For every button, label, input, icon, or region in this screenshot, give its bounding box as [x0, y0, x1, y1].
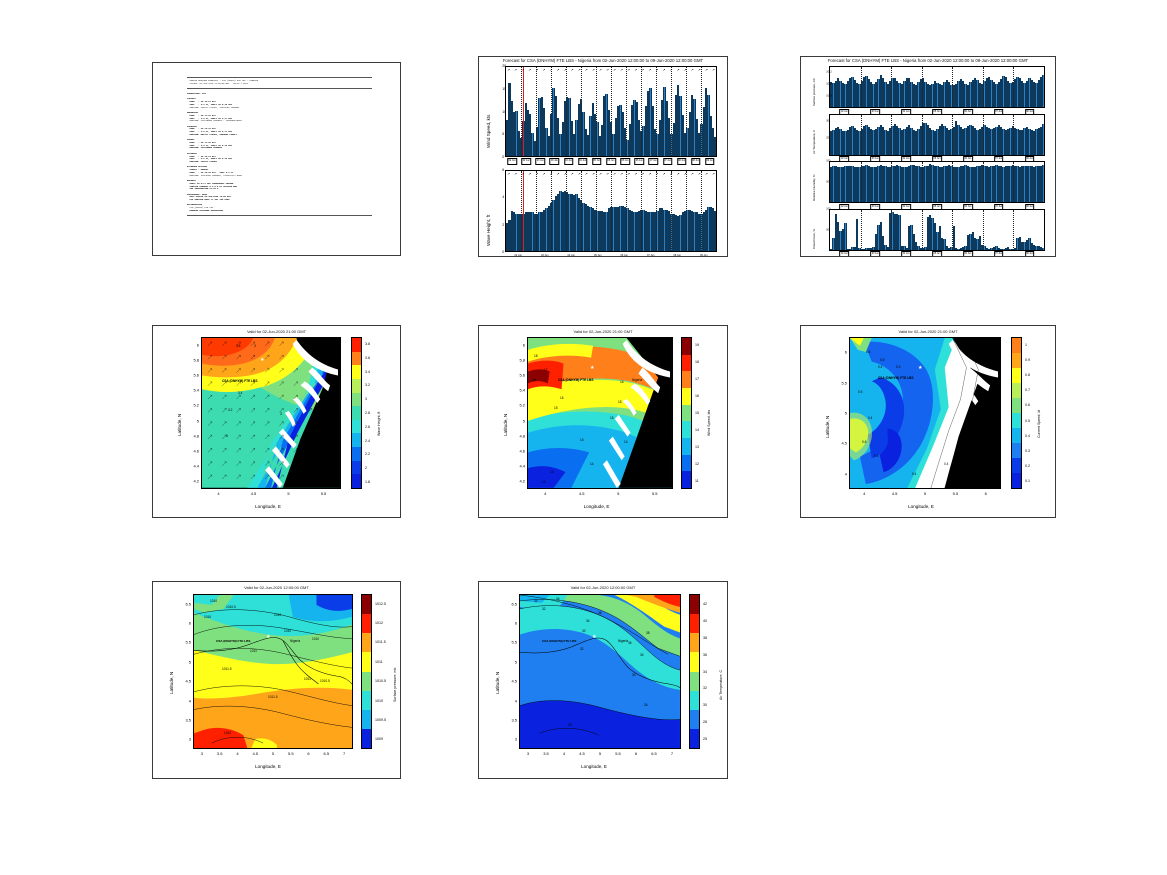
x-tick-box: 06 Jun — [620, 158, 630, 165]
y-tick-label: 4.6 — [185, 449, 199, 454]
x-tick-box: 03 Jun — [550, 158, 560, 165]
wind-speed-gridlines — [506, 67, 716, 156]
contour-label: 14 — [590, 462, 594, 466]
x-tick-label: 6 — [985, 491, 987, 496]
x-tick-label: 5.5 — [288, 751, 294, 756]
cloud-cover-timeseries-plot-area — [829, 209, 1045, 251]
contour-label: 18 — [534, 354, 538, 358]
colorbar-band — [682, 338, 691, 355]
x-tick-label: 4.5 — [252, 751, 258, 756]
x-tick-label: 06 Jun — [620, 254, 628, 257]
y-tick-label: 50 — [826, 181, 827, 184]
gridline — [891, 210, 892, 250]
gridline — [1013, 67, 1014, 107]
colorbar-band — [682, 405, 691, 422]
contour-label: 15 — [610, 416, 614, 420]
x-tick-box: 09 Jun — [705, 158, 715, 165]
wave-colorbar-label: Wave Height, ft — [377, 412, 381, 436]
y-tick-label: 5.8 — [185, 357, 199, 362]
colorbar-band — [352, 393, 361, 407]
colorbar-band — [1012, 413, 1021, 428]
colorbar-band — [1012, 398, 1021, 413]
site-star-icon: ★ — [590, 366, 594, 371]
x-tick-box: 03 Jun — [536, 158, 546, 165]
report-line — [187, 77, 372, 78]
y-tick-label: 6 — [185, 342, 199, 347]
pressure-colorbar-label: Surface pressure, mb — [393, 668, 397, 702]
isotherm-label: 32 — [582, 629, 586, 633]
gridline — [861, 162, 862, 202]
colorbar-tick-label: 1012 — [375, 621, 383, 625]
colorbar-tick-label: 16 — [695, 394, 699, 398]
colorbar-tick-label: 25 — [703, 737, 707, 741]
gridline — [1013, 115, 1014, 155]
site-star-icon: ★ — [592, 635, 596, 640]
gridline — [983, 162, 984, 202]
direction-arrow-icon: ↗ — [646, 172, 653, 177]
gridline — [656, 67, 657, 156]
colorbar-tick-label: 0.7 — [1025, 388, 1030, 392]
x-tick-box: 05 Jun — [592, 158, 602, 165]
wave-map-colorbar — [351, 337, 362, 489]
colorbar-tick-label: 1012.5 — [375, 602, 386, 606]
x-tick-label: 4 — [217, 491, 219, 496]
y-tick-label: 50 — [826, 228, 827, 231]
direction-arrow-icon: ↗ — [526, 172, 533, 177]
gridline — [551, 67, 552, 156]
y-tick-label: 10 — [502, 110, 503, 114]
y-tick-label: 4 — [833, 471, 847, 476]
contour-label: 0.5 — [858, 390, 862, 394]
x-tick-label: 3 — [201, 751, 203, 756]
panel-wind-speed-map[interactable]: Valid for 02-Jun-2020 21:00 GMT — [478, 325, 728, 518]
site-star-icon: ★ — [266, 635, 270, 640]
y-tick-label: 4.8 — [185, 433, 199, 438]
current-map-plot-area: CSA (DNHYM) FTE LBS ★ 0.6 0.5 0.4 0.3 0.… — [849, 337, 1001, 489]
current-map-y-label: Latitude, N — [825, 416, 830, 438]
colorbar-tick-label: 0.1 — [1025, 479, 1030, 483]
relative-humidity-timeseries-subplot: Relative Humidity, %5010002 Jun03 Jun04 … — [829, 161, 1045, 203]
direction-arrow-icon: ↗ — [583, 172, 590, 177]
x-tick-label: 3.5 — [543, 751, 549, 756]
colorbar-band — [682, 455, 691, 472]
contour-label: 18 — [532, 378, 536, 382]
y-tick-label: 4.5 — [177, 679, 191, 684]
gridline — [922, 210, 923, 250]
x-tick-label: 6.5 — [324, 751, 330, 756]
wave-field — [202, 338, 340, 488]
direction-arrow-icon: ↗ — [576, 172, 583, 177]
contour-label: 15 — [554, 406, 558, 410]
x-tick-label: 05 Jun — [594, 254, 602, 257]
direction-arrow-icon: ↗ — [667, 68, 674, 73]
contour-label: 3.2 — [228, 408, 232, 412]
colorbar-tick-label: 0.4 — [1025, 434, 1030, 438]
colorbar-band — [352, 433, 361, 447]
colorbar-band — [362, 729, 371, 748]
panel-empty-slot — [800, 581, 1056, 779]
gridline — [551, 171, 552, 251]
y-tick-label: 6.5 — [177, 601, 191, 606]
wind-direction-arrows: ↗↗↗↗↗↗↗↗↗↗↗↗↗↗↗↗↗↗↗↗↗↗↗↗↗↗↗↗↗↗ — [505, 68, 717, 73]
colorbar-tick-label: 2.4 — [365, 439, 370, 443]
x-tick-label: 4.5 — [892, 491, 898, 496]
y-tick-label: 3.5 — [503, 717, 517, 722]
colorbar-band — [1012, 443, 1021, 458]
colorbar-tick-label: 1010 — [375, 699, 383, 703]
direction-arrow-icon: ↗ — [505, 68, 512, 73]
y-tick-label: 6 — [511, 342, 525, 347]
x-tick-box: 05 Jun — [932, 251, 942, 257]
direction-arrow-icon: ↗ — [590, 68, 597, 73]
x-tick-label: 3 — [527, 751, 529, 756]
contour-label: 0.6 — [862, 440, 866, 444]
direction-arrow-icon: ↗ — [512, 68, 519, 73]
contour-label: 17 — [544, 368, 548, 372]
wind-wave-title: Forecast for CSA (DNHYM) FTE LBS - Niger… — [479, 58, 727, 63]
gridline — [1013, 210, 1014, 250]
x-tick-label: 08 Jun — [673, 254, 681, 257]
y-tick-label: 3.5 — [177, 717, 191, 722]
direction-arrow-icon: ↗ — [576, 68, 583, 73]
y-tick-label: 5 — [177, 659, 191, 664]
region-label: Nigeria — [618, 639, 628, 643]
current-map-site-label: CSA (DNHYM) FTE LBS — [878, 376, 913, 380]
direction-arrow-icon: ↗ — [505, 172, 512, 177]
wind-map-site-label: CSA (DNHYM) FTE LBS — [558, 378, 593, 382]
colorbar-band — [682, 371, 691, 388]
direction-arrow-icon: ↗ — [710, 172, 717, 177]
isobar-label: 1010 — [312, 637, 319, 641]
wave-map-plot-area: CSA (DNHYM) FTE LBS ★ 3.6 3 3.4 3.2 3 3 … — [201, 337, 341, 489]
y-tick-label: 0 — [502, 155, 503, 159]
y-tick-label: 25 — [826, 137, 827, 140]
direction-arrow-icon: ↗ — [639, 172, 646, 177]
region-label: Nigeria — [290, 639, 300, 643]
gridline — [671, 171, 672, 251]
colorbar-tick-label: 1009.5 — [375, 718, 386, 722]
gridline — [861, 115, 862, 155]
isobar-label: 1012 — [224, 731, 231, 735]
x-tick-box: 06 Jun — [635, 158, 645, 165]
colorbar-tick-label: 1009 — [375, 737, 383, 741]
isotherm-label: 36 — [556, 597, 560, 601]
x-tick-box: 02 Jun — [507, 158, 517, 165]
direction-arrow-icon: ↗ — [710, 68, 717, 73]
relative-humidity-timeseries-axis-label: Relative Humidity, % — [812, 175, 816, 201]
panel-wave-height-map[interactable]: Valid for 02-Jun-2020 21:00 GMT — [152, 325, 401, 518]
gridline — [922, 115, 923, 155]
x-tick-label: 5 — [924, 491, 926, 496]
isotherm-label: 34 — [640, 653, 644, 657]
contour-label: 2 — [304, 460, 306, 464]
isotherm-label: 34 — [534, 599, 538, 603]
colorbar-band — [362, 614, 371, 633]
contour-label: 0.6 — [866, 350, 870, 354]
direction-arrow-icon: ↗ — [533, 68, 540, 73]
colorbar-band — [352, 447, 361, 461]
direction-arrow-icon: ↗ — [597, 68, 604, 73]
y-tick-label: 5 — [833, 411, 847, 416]
contour-label: 12 — [542, 480, 546, 484]
colorbar-band — [1012, 428, 1021, 443]
airtemp-map-plot-area: CSA (DNHYM) FTE LBS ★ Nigeria 34 36 32 3… — [519, 594, 681, 749]
x-tick-label: 4.5 — [579, 491, 585, 496]
colorbar-band — [352, 420, 361, 434]
direction-arrow-icon: ↗ — [597, 172, 604, 177]
colorbar-tick-label: 17 — [695, 377, 699, 381]
gridline — [1013, 162, 1014, 202]
report-line — [187, 88, 372, 89]
isotherm-label: 26 — [644, 703, 648, 707]
x-tick-box: 04 Jun — [901, 251, 911, 257]
isobar-label: 1011.5 — [222, 667, 232, 671]
y-tick-label: 5.2 — [185, 403, 199, 408]
current-map-colorbar — [1011, 337, 1022, 489]
colorbar-band — [362, 672, 371, 691]
contour-label: 13 — [550, 470, 554, 474]
direction-arrow-icon: ↗ — [703, 68, 710, 73]
gridline — [536, 171, 537, 251]
colorbar-tick-label: 1 — [1025, 343, 1027, 347]
panel-air-temperature-map[interactable]: Valid for 02-Jun-2020 12:00:00 GMT — [478, 581, 728, 779]
colorbar-band — [1012, 368, 1021, 383]
current-map-title: Valid for 02-Jun-2020 21:00 GMT — [801, 329, 1055, 334]
y-tick-label: 3 — [503, 737, 517, 742]
y-tick-label: 4.2 — [511, 479, 525, 484]
x-tick-label: 09 Jun — [700, 254, 708, 257]
current-time-marker — [523, 67, 524, 156]
wave-map-x-label: Longitude, E — [183, 504, 353, 509]
direction-arrow-icon: ↗ — [653, 68, 660, 73]
contour-label: 3 — [226, 434, 228, 438]
surface-pressure-timeseries-plot-area — [829, 66, 1045, 108]
wave-map-y-label: Latitude, N — [177, 414, 182, 436]
direction-arrow-icon: ↗ — [660, 68, 667, 73]
contour-label: 0.3 — [874, 454, 878, 458]
x-tick-box: 07 Jun — [663, 158, 673, 165]
report-body: MARINE WEATHER FORECAST - CSA (DNHYM) FT… — [153, 63, 400, 255]
current-map-x-label: Longitude, E — [831, 504, 1011, 509]
current-time-marker-wave — [523, 171, 524, 251]
direction-arrow-icon: ↗ — [519, 172, 526, 177]
colorbar-tick-label: 1010.5 — [375, 679, 386, 683]
colorbar-tick-label: 0.2 — [1025, 464, 1030, 468]
gridline — [596, 171, 597, 251]
colorbar-tick-label: 3.8 — [365, 342, 370, 346]
direction-arrow-icon: ↗ — [554, 172, 561, 177]
isotherm-label: 30 — [632, 673, 636, 677]
y-tick-label: 0 — [502, 250, 503, 254]
pressure-map-title: Valid for 02-Jun-2020 12:00:00 GMT — [153, 585, 400, 590]
contour-label: 3.4 — [238, 391, 242, 395]
y-tick-label: 3 — [177, 737, 191, 742]
direction-arrow-icon: ↗ — [562, 172, 569, 177]
colorbar-tick-label: 0.6 — [1025, 403, 1030, 407]
x-tick-label: 04 Jun — [567, 254, 575, 257]
y-tick-label: 4.5 — [503, 679, 517, 684]
gridline — [671, 67, 672, 156]
direction-arrow-icon: ↗ — [611, 68, 618, 73]
colorbar-tick-label: 36 — [703, 653, 707, 657]
panel-wind-wave-timeseries[interactable]: Forecast for CSA (DNHYM) FTE LBS - Niger… — [478, 56, 728, 257]
colorbar-band — [352, 379, 361, 393]
colorbar-band — [1012, 458, 1021, 473]
x-tick-label: 03 Jun — [541, 254, 549, 257]
x-tick-label: 4.5 — [251, 491, 257, 496]
airtemp-map-x-label: Longitude, E — [499, 764, 689, 769]
colorbar-band — [682, 438, 691, 455]
gridline — [581, 67, 582, 156]
contour-label: 3 — [280, 412, 282, 416]
airtemp-map-site-label: CSA (DNHYM) FTE LBS — [542, 639, 576, 643]
x-tick-label: 3.5 — [217, 751, 223, 756]
colorbar-tick-label: 42 — [703, 602, 707, 606]
direction-arrow-icon: ↗ — [519, 68, 526, 73]
y-tick-label: 15 — [502, 87, 503, 91]
panel-forecast-text-report[interactable]: MARINE WEATHER FORECAST - CSA (DNHYM) FT… — [152, 62, 401, 256]
x-tick-box: 04 Jun — [564, 158, 574, 165]
gridline — [861, 210, 862, 250]
contour-label: 0.3 — [896, 365, 900, 369]
colorbar-tick-label: 0.8 — [1025, 373, 1030, 377]
isotherm-label: 32 — [580, 647, 584, 651]
y-tick-label: 5.4 — [185, 388, 199, 393]
y-tick-label: 5.6 — [511, 373, 525, 378]
panel-surface-pressure-map[interactable]: Valid for 02-Jun-2020 12:00:00 GMT — [152, 581, 401, 779]
airtemp-field — [520, 595, 680, 748]
x-tick-label: 5.5 — [953, 491, 959, 496]
x-tick-label: 5.5 — [615, 751, 621, 756]
isobar-label: 1010 — [274, 613, 281, 617]
isotherm-label: 32 — [542, 607, 546, 611]
gridline — [626, 171, 627, 251]
wave-height-subplot: Wave Height, ft 0246 ↗↗↗↗↗↗↗↗↗↗↗↗↗↗↗↗↗↗↗… — [505, 170, 717, 252]
colorbar-tick-label: 11 — [695, 479, 699, 483]
direction-arrow-icon: ↗ — [540, 172, 547, 177]
colorbar-band — [690, 672, 699, 691]
isotherm-label: 38 — [646, 631, 650, 635]
colorbar-band — [690, 729, 699, 748]
direction-arrow-icon: ↗ — [660, 172, 667, 177]
x-tick-box: 07 Jun — [994, 251, 1004, 257]
direction-arrow-icon: ↗ — [554, 68, 561, 73]
isotherm-label: 36 — [628, 641, 632, 645]
direction-arrow-icon: ↗ — [547, 68, 554, 73]
gridline — [641, 171, 642, 251]
direction-arrow-icon: ↗ — [696, 68, 703, 73]
direction-arrow-icon: ↗ — [646, 68, 653, 73]
y-tick-label: 100 — [826, 207, 827, 210]
colorbar-band — [690, 652, 699, 671]
y-tick-label: 1008 — [826, 95, 827, 98]
gridlines — [830, 115, 1044, 155]
surface-pressure-timeseries-axis-label: Surface pressure, mb — [812, 78, 816, 106]
colorbar-tick-label: 3.4 — [365, 370, 370, 374]
x-tick-label: 5.5 — [652, 491, 658, 496]
site-star-icon: ★ — [918, 366, 922, 371]
x-tick-box: 08 Jun — [1025, 251, 1035, 257]
direction-arrow-icon: ↗ — [512, 172, 519, 177]
y-tick-label: 5.4 — [511, 388, 525, 393]
y-tick-label: 6 — [177, 621, 191, 626]
x-tick-box: 03 Jun — [870, 251, 880, 257]
site-star-icon: ★ — [260, 358, 264, 363]
colorbar-tick-label: 2.8 — [365, 411, 370, 415]
direction-arrow-icon: ↗ — [632, 68, 639, 73]
x-tick-box: 06 Jun — [963, 251, 973, 257]
y-tick-label: 5.8 — [511, 357, 525, 362]
y-tick-label: 6.5 — [503, 601, 517, 606]
y-tick-label: 30 — [826, 119, 827, 122]
x-tick-box: 08 Jun — [691, 158, 701, 165]
direction-arrow-icon: ↗ — [667, 172, 674, 177]
colorbar-tick-label: 18 — [695, 360, 699, 364]
y-tick-label: 5.6 — [185, 373, 199, 378]
current-field — [850, 338, 1000, 488]
gridline — [952, 210, 953, 250]
isobar-label: 1010 — [284, 629, 291, 633]
x-tick-label: 4 — [863, 491, 865, 496]
wave-direction-arrows: ↗↗↗↗↗↗↗↗↗↗↗↗↗↗↗↗↗↗↗↗↗↗↗↗↗↗↗↗↗↗ — [505, 172, 717, 177]
colorbar-band — [690, 595, 699, 614]
gridline — [952, 67, 953, 107]
colorbar-tick-label: 12 — [695, 462, 699, 466]
colorbar-band — [362, 633, 371, 652]
wind-map-y-label: Latitude, N — [503, 414, 508, 436]
isobar-label: 1011.5 — [268, 695, 278, 699]
panel-current-speed-map[interactable]: Valid for 02-Jun-2020 21:00 GMT — [800, 325, 1056, 518]
colorbar-tick-label: 2 — [365, 466, 367, 470]
pressure-map-colorbar — [361, 594, 372, 749]
y-tick-label: 4.4 — [185, 464, 199, 469]
colorbar-band — [362, 691, 371, 710]
wind-speed-subplot: Wind Speed, kts 05101520 ↗↗↗↗↗↗↗↗↗↗↗↗↗↗↗… — [505, 66, 717, 157]
y-tick-label: 4 — [177, 698, 191, 703]
gridline — [686, 67, 687, 156]
isobar-label: 1010 — [204, 615, 211, 619]
x-tick-label: 6 — [307, 751, 309, 756]
colorbar-band — [682, 388, 691, 405]
isotherm-label: 28 — [568, 723, 572, 727]
wave-height-plot-area — [505, 170, 717, 252]
colorbar-band — [690, 710, 699, 729]
x-tick-label: 7 — [343, 751, 345, 756]
current-colorbar-label: Current Speed, kt — [1037, 410, 1041, 438]
gridline — [952, 115, 953, 155]
direction-arrow-icon: ↗ — [540, 68, 547, 73]
contour-label: 0.4 — [878, 365, 882, 369]
direction-arrow-icon: ↗ — [675, 172, 682, 177]
wave-height-gridlines — [506, 171, 716, 251]
pressure-map-site-label: CSA (DNHYM) FTE LBS — [216, 639, 250, 643]
direction-arrow-icon: ↗ — [632, 172, 639, 177]
y-tick-label: 4.8 — [511, 433, 525, 438]
x-tick-label: 5.5 — [321, 491, 327, 496]
gridline — [686, 171, 687, 251]
x-tick-box: 02 Jun — [840, 251, 850, 257]
x-tick-label: 4 — [236, 751, 238, 756]
colorbar-band — [682, 421, 691, 438]
contour-label: 16 — [560, 396, 564, 400]
colorbar-tick-label: 0.9 — [1025, 358, 1030, 362]
x-tick-label: 4 — [563, 751, 565, 756]
colorbar-band — [682, 471, 691, 488]
panel-meteorology-timeseries[interactable]: Forecast for CSA (DNHYM) FTE LBS - Niger… — [800, 56, 1056, 257]
direction-arrow-icon: ↗ — [653, 172, 660, 177]
contour-label: 16 — [620, 380, 624, 384]
wind-speed-plot-area — [505, 66, 717, 157]
